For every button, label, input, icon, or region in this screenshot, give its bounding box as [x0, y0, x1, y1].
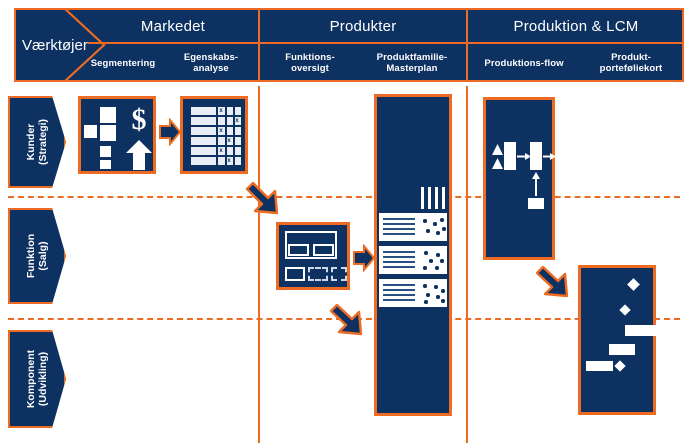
produktions-flow-tile[interactable] — [483, 97, 555, 260]
function-item-box-dashed — [308, 267, 328, 281]
masterplan-dot — [436, 295, 440, 299]
function-sub-box — [313, 244, 334, 256]
flow-process-box — [504, 142, 516, 170]
matrix-x-mark: x — [225, 137, 233, 145]
funktionsoversigt-tile[interactable] — [276, 222, 350, 290]
masterplan-text-line — [383, 223, 415, 225]
masterplan-dot — [426, 293, 430, 297]
masterplan-dot — [426, 229, 430, 233]
flow-process-box — [530, 142, 542, 170]
masterplan-dot — [440, 218, 444, 222]
masterplan-text-line — [383, 251, 415, 253]
masterplan-tick — [421, 187, 424, 209]
flow-supply-box — [528, 198, 544, 209]
masterplan-dot — [423, 219, 427, 223]
portfolio-diamond — [614, 360, 625, 371]
produktfamilie-masterplan-tile[interactable] — [374, 94, 452, 416]
masterplan-dot — [442, 227, 446, 231]
header-tool-egenskabsanalyse[interactable]: Egenskabs- analyse — [164, 44, 258, 82]
masterplan-dot — [423, 266, 427, 270]
masterplan-row — [379, 246, 447, 274]
arrow-funktion-to-komponent — [328, 302, 370, 342]
masterplan-tick — [442, 187, 445, 209]
egenskabsanalyse-matrix-tile[interactable]: x x x x x x — [180, 96, 248, 174]
matrix-x-mark: x — [233, 117, 241, 125]
function-item-box — [285, 267, 305, 281]
matrix-col-divider — [233, 107, 235, 165]
header-tool-funktionsoversigt[interactable]: Funktions- oversigt — [262, 44, 358, 82]
flow-triangle-icon — [492, 158, 503, 169]
portfolio-bar — [625, 325, 658, 336]
masterplan-dot — [423, 284, 427, 288]
masterplan-dot — [435, 266, 439, 270]
header-group-markedet: Markedet — [88, 10, 258, 42]
matrix-x-mark: x — [217, 147, 225, 155]
masterplan-text-line — [383, 266, 415, 268]
stage-divider-kunder-funktion — [8, 196, 680, 198]
masterplan-tick — [428, 187, 431, 209]
matrix-grid: x x x x x x — [191, 107, 241, 167]
stage-funktion-label: Funktion (Salg) — [0, 229, 83, 283]
matrix-x-mark: x — [217, 127, 225, 135]
produkt-portefoliekort-tile[interactable] — [578, 265, 656, 415]
masterplan-dot — [441, 299, 445, 303]
flow-arrow-icon — [543, 152, 556, 161]
masterplan-dot — [424, 251, 428, 255]
segment-square-3 — [84, 125, 97, 138]
masterplan-dot — [441, 289, 445, 293]
arrow-seg-to-egen — [159, 118, 181, 146]
masterplan-dot — [440, 259, 444, 263]
product-management-framework-diagram: Værktøjer Markedet Produkter Produktion … — [0, 0, 688, 447]
segmentering-icon-tile[interactable]: $ — [78, 96, 156, 174]
portfolio-diamond — [627, 278, 640, 291]
masterplan-dot — [434, 285, 438, 289]
masterplan-dot — [424, 300, 428, 304]
portfolio-bar — [586, 361, 613, 371]
arrow-flow-to-portefolie — [534, 264, 576, 304]
segment-square-5 — [100, 160, 111, 169]
masterplan-text-line — [383, 233, 415, 235]
arrow-funk-to-masterplan — [353, 244, 375, 272]
matrix-x-mark: x — [217, 107, 225, 115]
portfolio-diamond — [619, 304, 630, 315]
segment-square-4 — [100, 146, 111, 157]
masterplan-text-line — [383, 284, 415, 286]
column-divider-produktion — [466, 86, 468, 443]
header-tool-produkt-portefoliekort[interactable]: Produkt- porteføliekort — [578, 44, 684, 82]
masterplan-text-line — [383, 294, 415, 296]
masterplan-dot — [436, 231, 440, 235]
portfolio-bar — [609, 344, 635, 355]
masterplan-text-line — [383, 256, 415, 258]
column-divider-produkter — [258, 86, 260, 443]
masterplan-text-line — [383, 299, 415, 301]
flow-triangle-icon — [492, 144, 503, 155]
masterplan-text-line — [383, 289, 415, 291]
masterplan-dot — [429, 259, 433, 263]
growth-arrow-icon — [125, 139, 153, 171]
masterplan-text-line — [383, 228, 415, 230]
header-tool-segmentering[interactable]: Segmentering — [72, 44, 174, 82]
masterplan-dot — [436, 253, 440, 257]
header-group-produktion-lcm: Produktion & LCM — [468, 10, 684, 42]
masterplan-text-line — [383, 218, 415, 220]
stage-funktion[interactable]: Funktion (Salg) — [8, 208, 66, 304]
stage-komponent-label: Komponent (Udvikling) — [0, 352, 84, 406]
arrow-kunder-to-funktion — [244, 180, 286, 222]
flow-arrow-icon — [517, 152, 531, 161]
header-tool-produktfamilie-masterplan[interactable]: Produktfamilie- Masterplan — [358, 44, 466, 82]
masterplan-row — [379, 213, 447, 241]
stage-kunder-label: Kunder (Strategi) — [0, 115, 81, 169]
matrix-col-divider — [216, 107, 218, 165]
masterplan-text-line — [383, 261, 415, 263]
stage-komponent[interactable]: Komponent (Udvikling) — [8, 330, 66, 428]
masterplan-row — [379, 279, 447, 307]
header-group-produkter: Produkter — [260, 10, 466, 42]
segment-square-1 — [100, 107, 116, 123]
masterplan-dot — [433, 222, 437, 226]
dollar-icon: $ — [125, 101, 153, 139]
segment-square-2 — [100, 125, 116, 141]
header-tool-produktions-flow[interactable]: Produktions-flow — [470, 44, 578, 82]
masterplan-tick — [435, 187, 438, 209]
function-sub-box — [288, 244, 309, 256]
function-item-box-dashed — [331, 267, 347, 281]
stage-kunder[interactable]: Kunder (Strategi) — [8, 96, 66, 188]
matrix-x-mark: x — [225, 157, 233, 165]
flow-up-arrow-icon — [531, 172, 541, 196]
